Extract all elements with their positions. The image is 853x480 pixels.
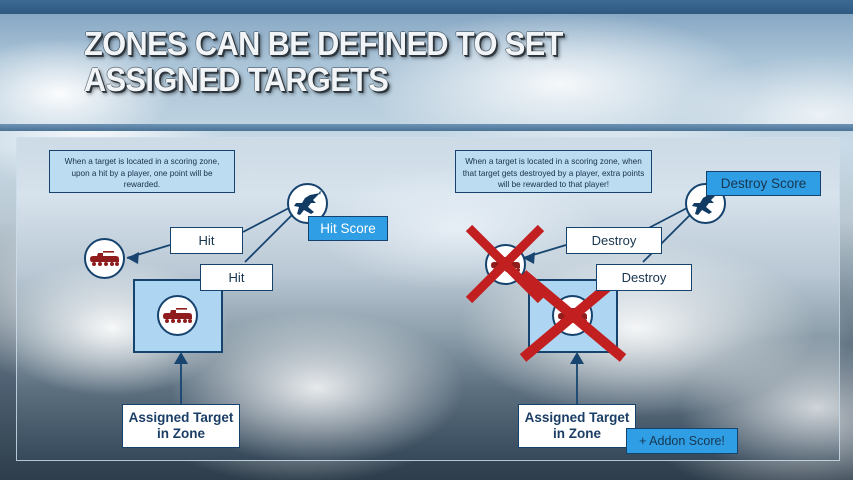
slide-canvas: ZONES CAN BE DEFINED TO SET ASSIGNED TAR… bbox=[0, 0, 853, 480]
tank-icon bbox=[558, 306, 588, 326]
tank-icon bbox=[90, 249, 120, 269]
caption-line1: Assigned Target bbox=[129, 410, 234, 426]
arrowhead bbox=[570, 352, 584, 364]
left-target-in-zone bbox=[157, 295, 198, 336]
tank-icon bbox=[163, 306, 193, 326]
left-target-outside-zone bbox=[84, 238, 125, 279]
fighter-jet-icon bbox=[293, 190, 323, 218]
arrowhead bbox=[127, 252, 139, 264]
left-hit-label-bottom: Hit bbox=[200, 264, 273, 291]
hit-score-badge[interactable]: Hit Score bbox=[308, 216, 388, 241]
arrowhead bbox=[174, 352, 188, 364]
destroy-score-badge[interactable]: Destroy Score bbox=[706, 171, 821, 196]
right-destroy-label-bottom: Destroy bbox=[596, 264, 692, 291]
right-target-in-zone bbox=[552, 295, 593, 336]
addon-score-badge[interactable]: + Addon Score! bbox=[626, 428, 738, 454]
right-assigned-target-caption: Assigned Target in Zone bbox=[518, 404, 636, 448]
right-target-outside-zone bbox=[485, 244, 526, 285]
caption-line2: in Zone bbox=[157, 426, 205, 442]
left-hit-label-top: Hit bbox=[170, 227, 243, 254]
right-info-box: When a target is located in a scoring zo… bbox=[455, 150, 652, 193]
caption-line2: in Zone bbox=[553, 426, 601, 442]
left-info-box: When a target is located in a scoring zo… bbox=[49, 150, 235, 193]
left-assigned-target-caption: Assigned Target in Zone bbox=[122, 404, 240, 448]
caption-line1: Assigned Target bbox=[525, 410, 630, 426]
tank-icon bbox=[491, 255, 521, 275]
right-destroy-label-top: Destroy bbox=[566, 227, 662, 254]
